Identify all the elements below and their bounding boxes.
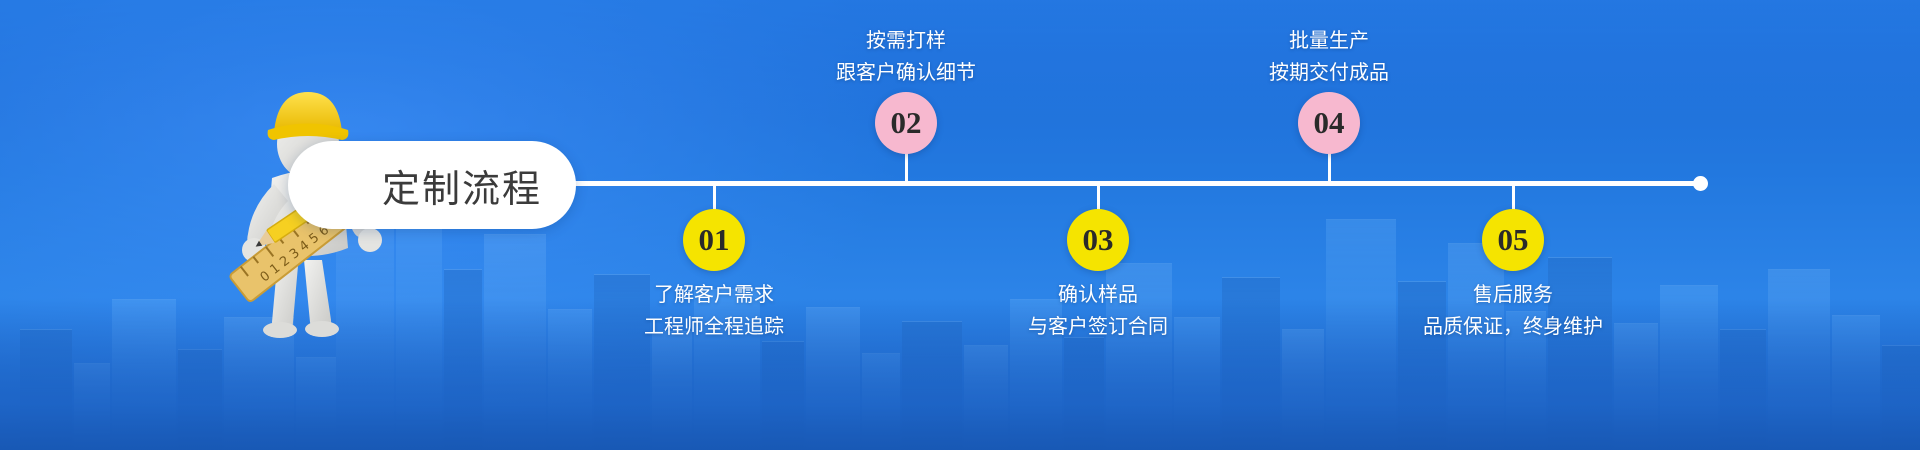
step-03-caption: 确认样品 与客户签订合同 [948, 278, 1248, 342]
step-05-badge[interactable]: 05 [1482, 209, 1544, 271]
step-03-stem [1097, 184, 1100, 212]
step-02-caption-line-2: 跟客户确认细节 [756, 56, 1056, 88]
step-03-badge[interactable]: 03 [1067, 209, 1129, 271]
step-05-stem [1512, 184, 1515, 212]
step-05-caption-line-1: 售后服务 [1363, 278, 1663, 310]
step-04-caption-line-2: 按期交付成品 [1179, 56, 1479, 88]
timeline-end-dot [1693, 176, 1708, 191]
step-04-stem [1328, 152, 1331, 184]
step-02-caption: 按需打样 跟客户确认细节 [756, 24, 1056, 88]
step-01-caption-line-2: 工程师全程追踪 [564, 310, 864, 342]
step-04-badge[interactable]: 04 [1298, 92, 1360, 154]
step-02-badge[interactable]: 02 [875, 92, 937, 154]
step-04-caption: 批量生产 按期交付成品 [1179, 24, 1479, 88]
page-title: 定制流程 [288, 141, 576, 229]
step-05-caption-line-2: 品质保证，终身维护 [1363, 310, 1663, 342]
step-03-caption-line-2: 与客户签订合同 [948, 310, 1248, 342]
step-01-caption-line-1: 了解客户需求 [564, 278, 864, 310]
step-03-caption-line-1: 确认样品 [948, 278, 1248, 310]
step-01-caption: 了解客户需求 工程师全程追踪 [564, 278, 864, 342]
step-04-caption-line-1: 批量生产 [1179, 24, 1479, 56]
step-01-badge[interactable]: 01 [683, 209, 745, 271]
process-banner: 0 1 2 3 4 5 6 定制流程 01 了解客户需求 工程师全程追踪 02 … [0, 0, 1920, 450]
step-05-caption: 售后服务 品质保证，终身维护 [1363, 278, 1663, 342]
step-02-caption-line-1: 按需打样 [756, 24, 1056, 56]
step-01-stem [713, 184, 716, 212]
step-02-stem [905, 152, 908, 184]
